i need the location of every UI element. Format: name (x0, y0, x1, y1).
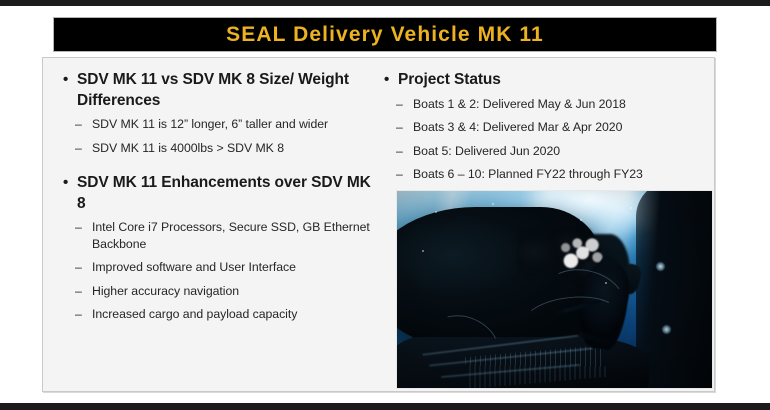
list-item: – Boats 6 – 10: Planned FY22 through FY2… (380, 166, 705, 182)
heading-text: SDV MK 11 Enhancements over SDV MK 8 (77, 174, 371, 212)
dash-icon: – (75, 219, 82, 235)
bullet-block-size-weight: • SDV MK 11 vs SDV MK 8 Size/ Weight Dif… (59, 70, 379, 156)
list-item-text: Boat 5: Delivered Jun 2020 (413, 144, 560, 158)
bottom-frame-strip (0, 403, 770, 410)
list-item: – Boat 5: Delivered Jun 2020 (380, 143, 705, 159)
dash-icon: – (75, 116, 82, 132)
list-item: – SDV MK 11 is 4000lbs > SDV MK 8 (59, 140, 379, 156)
list-item-text: Boats 6 – 10: Planned FY22 through FY23 (413, 167, 643, 181)
sdv-underwater-photo (396, 190, 713, 389)
heading-enhancements: • SDV MK 11 Enhancements over SDV MK 8 (59, 173, 379, 214)
dash-icon: – (75, 306, 82, 322)
dash-icon: – (75, 140, 82, 156)
photo-image (397, 191, 712, 388)
bullet-block-project-status: • Project Status – Boats 1 & 2: Delivere… (380, 70, 705, 182)
list-item-text: SDV MK 11 is 4000lbs > SDV MK 8 (92, 141, 284, 155)
heading-text: SDV MK 11 vs SDV MK 8 Size/ Weight Diffe… (77, 71, 349, 109)
list-item-text: Improved software and User Interface (92, 260, 296, 274)
heading-text: Project Status (398, 71, 501, 88)
list-item: – Boats 3 & 4: Delivered Mar & Apr 2020 (380, 119, 705, 135)
bullet-block-enhancements: • SDV MK 11 Enhancements over SDV MK 8 –… (59, 173, 379, 323)
page-title: SEAL Delivery Vehicle MK 11 (226, 24, 544, 45)
heading-size-weight-differences: • SDV MK 11 vs SDV MK 8 Size/ Weight Dif… (59, 70, 379, 111)
slide-canvas: SEAL Delivery Vehicle MK 11 • SDV MK 11 … (0, 6, 770, 403)
list-item-text: Higher accuracy navigation (92, 284, 239, 298)
dash-icon: – (75, 283, 82, 299)
bullet-dot-icon: • (63, 173, 68, 193)
photo-vignette (397, 191, 712, 388)
bullet-dot-icon: • (63, 70, 68, 90)
dash-icon: – (396, 166, 403, 182)
list-item-text: Boats 3 & 4: Delivered Mar & Apr 2020 (413, 120, 622, 134)
dash-icon: – (396, 143, 403, 159)
dash-icon: – (396, 96, 403, 112)
sublist-project-status: – Boats 1 & 2: Delivered May & Jun 2018 … (380, 96, 705, 183)
bullet-dot-icon: • (384, 70, 389, 90)
list-item-text: Intel Core i7 Processors, Secure SSD, GB… (92, 220, 370, 250)
dash-icon: – (75, 259, 82, 275)
right-column: • Project Status – Boats 1 & 2: Delivere… (380, 70, 705, 198)
slide-title-bar: SEAL Delivery Vehicle MK 11 (53, 17, 717, 52)
dash-icon: – (396, 119, 403, 135)
heading-project-status: • Project Status (380, 70, 705, 91)
list-item: – Higher accuracy navigation (59, 283, 379, 299)
slide-content-panel: • SDV MK 11 vs SDV MK 8 Size/ Weight Dif… (42, 57, 715, 392)
list-item-text: Increased cargo and payload capacity (92, 307, 297, 321)
list-item: – Improved software and User Interface (59, 259, 379, 275)
list-item: – Increased cargo and payload capacity (59, 306, 379, 322)
list-item-text: Boats 1 & 2: Delivered May & Jun 2018 (413, 97, 626, 111)
list-item-text: SDV MK 11 is 12” longer, 6” taller and w… (92, 117, 328, 131)
sublist-enhancements: – Intel Core i7 Processors, Secure SSD, … (59, 219, 379, 322)
left-column: • SDV MK 11 vs SDV MK 8 Size/ Weight Dif… (59, 70, 379, 339)
list-item: – Boats 1 & 2: Delivered May & Jun 2018 (380, 96, 705, 112)
list-item: – Intel Core i7 Processors, Secure SSD, … (59, 219, 379, 252)
list-item: – SDV MK 11 is 12” longer, 6” taller and… (59, 116, 379, 132)
sublist-size-weight: – SDV MK 11 is 12” longer, 6” taller and… (59, 116, 379, 156)
